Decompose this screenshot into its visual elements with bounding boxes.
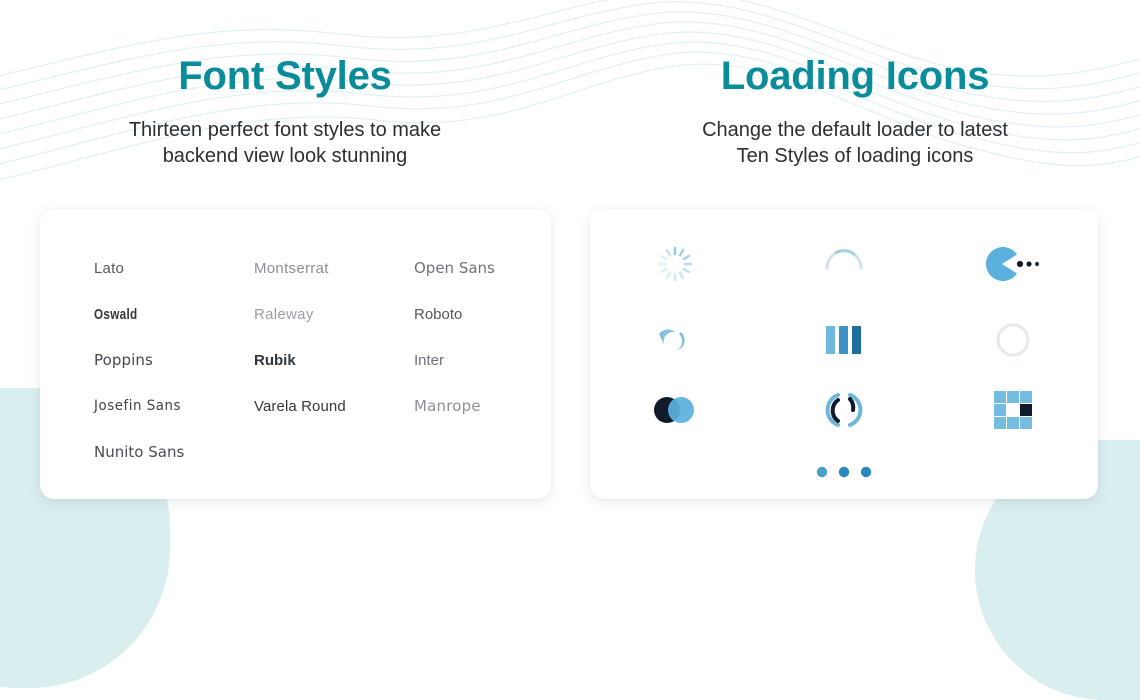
pacman-dots-icon <box>985 247 1041 281</box>
three-bars-icon <box>823 321 865 359</box>
spinner-ticks-icon <box>655 244 695 284</box>
loader-cell-7[interactable] <box>590 375 759 445</box>
loader-icon-grid <box>590 209 1098 445</box>
loading-icons-card <box>590 209 1098 499</box>
loading-icons-subtitle-line-2: Ten Styles of loading icons <box>737 145 974 167</box>
grid-squares-icon <box>992 389 1034 431</box>
font-styles-subtitle: Thirteen perfect font styles to make bac… <box>0 96 570 169</box>
font-item-josefin-sans[interactable]: Josefin Sans <box>94 398 241 414</box>
two-circles-icon <box>650 393 700 427</box>
loading-icons-column: Loading Icons Change the default loader … <box>570 0 1140 499</box>
loader-cell-2[interactable] <box>759 223 928 305</box>
loader-cell-4[interactable] <box>590 305 759 375</box>
font-item-raleway[interactable]: Raleway <box>254 306 414 323</box>
loader-cell-9[interactable] <box>929 375 1098 445</box>
split-brackets-icon <box>822 388 866 432</box>
font-styles-subtitle-line-2: backend view look stunning <box>163 145 408 167</box>
font-item-rubik[interactable]: Rubik <box>254 352 414 369</box>
loading-icons-title: Loading Icons <box>570 0 1140 96</box>
arc-ring-icon <box>821 241 867 287</box>
page-root: Font Styles Thirteen perfect font styles… <box>0 0 1140 578</box>
font-item-nunito-sans[interactable]: Nunito Sans <box>94 443 254 461</box>
two-column-layout: Font Styles Thirteen perfect font styles… <box>0 0 1140 499</box>
font-styles-subtitle-line-1: Thirteen perfect font styles to make <box>129 119 441 141</box>
font-styles-card: Lato Montserrat Open Sans Oswald Raleway… <box>40 209 551 499</box>
font-item-manrope[interactable]: Manrope <box>414 397 574 415</box>
three-dots-icon <box>814 464 874 480</box>
font-item-poppins[interactable]: Poppins <box>94 351 254 369</box>
font-styles-title: Font Styles <box>0 0 570 96</box>
font-item-inter[interactable]: Inter <box>414 352 574 369</box>
font-list-grid: Lato Montserrat Open Sans Oswald Raleway… <box>40 245 551 475</box>
font-item-roboto[interactable]: Roboto <box>414 306 574 323</box>
loading-icons-subtitle: Change the default loader to latest Ten … <box>570 96 1140 169</box>
loader-cell-6[interactable] <box>929 305 1098 375</box>
loader-cell-3[interactable] <box>929 223 1098 305</box>
loader-cell-5[interactable] <box>759 305 928 375</box>
font-styles-column: Font Styles Thirteen perfect font styles… <box>0 0 570 499</box>
font-item-oswald[interactable]: Oswald <box>94 306 219 323</box>
loader-cell-1[interactable] <box>590 223 759 305</box>
circle-ring-icon <box>993 320 1033 360</box>
font-item-varela-round[interactable]: Varela Round <box>254 398 414 415</box>
loader-cell-10[interactable] <box>590 445 1098 499</box>
dual-crescent-icon <box>653 320 697 360</box>
loading-icons-subtitle-line-1: Change the default loader to latest <box>702 119 1008 141</box>
loader-cell-8[interactable] <box>759 375 928 445</box>
font-item-open-sans[interactable]: Open Sans <box>414 259 574 277</box>
font-item-montserrat[interactable]: Montserrat <box>254 260 414 277</box>
font-item-lato[interactable]: Lato <box>94 260 254 277</box>
